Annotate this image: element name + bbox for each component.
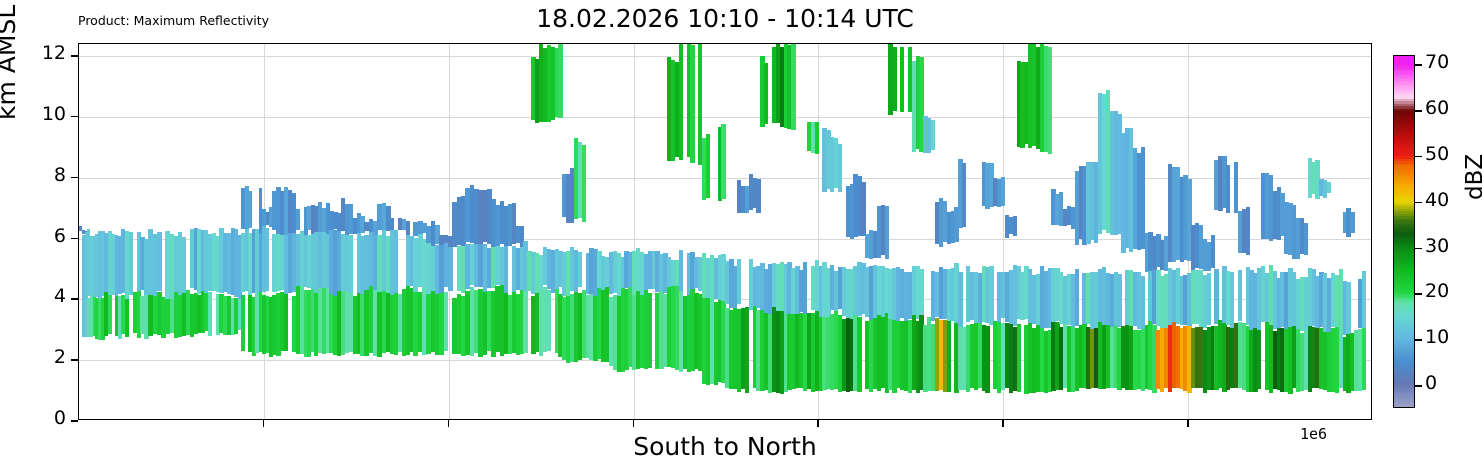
reflectivity-cell <box>1327 182 1331 193</box>
colorbar-tick-label: 30 <box>1425 235 1449 257</box>
colorbar-tick-label: 20 <box>1425 280 1449 302</box>
reflectivity-cell <box>1362 271 1366 328</box>
y-tick-mark <box>71 55 78 57</box>
reflectivity-cell <box>745 307 749 393</box>
reflectivity-cell <box>861 182 865 237</box>
colorbar-tick-mark <box>1415 64 1422 66</box>
reflectivity-cell <box>947 318 951 392</box>
reflectivity-cell <box>129 232 133 295</box>
x-tick-mark <box>817 420 819 427</box>
reflectivity-cell <box>679 44 683 160</box>
reflectivity-cell <box>125 294 129 336</box>
reflectivity-cell <box>558 44 562 118</box>
colorbar-tick-mark <box>1415 293 1422 295</box>
reflectivity-cell <box>1226 165 1230 213</box>
gridline-horizontal <box>79 117 1371 118</box>
reflectivity-cell <box>900 47 904 112</box>
reflectivity-cell <box>679 250 683 290</box>
reflectivity-cell <box>578 252 582 287</box>
colorbar-tick-mark <box>1415 110 1422 112</box>
reflectivity-cell <box>241 295 245 352</box>
reflectivity-cell <box>838 144 842 192</box>
reflectivity-cell <box>406 221 410 235</box>
reflectivity-cell <box>1001 177 1005 206</box>
reflectivity-cell <box>1048 47 1052 154</box>
reflectivity-cell <box>504 246 508 292</box>
reflectivity-cell <box>919 269 923 316</box>
reflectivity-cell <box>1238 270 1242 320</box>
reflectivity-cell <box>349 235 353 293</box>
colorbar-tick-label: 10 <box>1425 326 1449 348</box>
reflectivity-cell <box>157 232 162 291</box>
y-tick-mark <box>71 238 78 240</box>
colorbar-tick-label: 0 <box>1425 372 1437 394</box>
y-tick-label: 6 <box>10 225 66 247</box>
colorbar-title: dBZ <box>1462 154 1482 200</box>
colorbar-tick-label: 70 <box>1425 51 1449 73</box>
reflectivity-cell <box>1013 216 1017 237</box>
reflectivity-cell <box>690 45 694 163</box>
y-tick-label: 2 <box>10 346 66 368</box>
reflectivity-cell <box>1075 269 1079 326</box>
reflectivity-cell <box>1141 276 1145 330</box>
reflectivity-cell <box>803 262 807 313</box>
reflectivity-cell <box>1207 273 1211 325</box>
reflectivity-cell <box>582 145 586 222</box>
reflectivity-cell <box>885 206 889 260</box>
x-tick-mark <box>263 420 265 427</box>
y-tick-mark <box>71 116 78 118</box>
reflectivity-cell <box>648 293 652 367</box>
reflectivity-cell <box>1246 207 1250 255</box>
reflectivity-cell <box>706 134 710 198</box>
reflectivity-cell <box>108 295 112 334</box>
chart-title: 18.02.2026 10:10 - 10:14 UTC <box>78 4 1372 33</box>
reflectivity-cell <box>1117 274 1121 327</box>
y-tick-label: 4 <box>10 285 66 307</box>
reflectivity-cell <box>1214 269 1218 324</box>
x-tick-mark <box>448 420 450 427</box>
reflectivity-cell <box>962 163 966 227</box>
reflectivity-cell <box>523 288 527 353</box>
reflectivity-cell <box>791 44 795 130</box>
y-tick-mark <box>71 420 78 422</box>
y-axis-title: km AMSL <box>0 5 21 120</box>
reflectivity-cell <box>248 191 252 228</box>
reflectivity-cell <box>547 290 551 351</box>
reflectivity-cell <box>444 292 449 351</box>
reflectivity-cell <box>1017 324 1021 392</box>
reflectivity-cell <box>958 272 962 327</box>
colorbar-tick-label: 60 <box>1425 97 1449 119</box>
x-axis-offset-exponent: 1e6 <box>1300 425 1327 443</box>
reflectivity-cell <box>737 259 741 304</box>
colorbar-tick-mark <box>1415 156 1422 158</box>
radar-cross-section-figure: Product: Maximum Reflectivity 18.02.2026… <box>0 0 1482 470</box>
reflectivity-cell <box>284 292 288 351</box>
colorbar-tick-label: 40 <box>1425 189 1449 211</box>
x-tick-mark <box>1002 420 1004 427</box>
reflectivity-cell <box>985 326 989 393</box>
colorbar-tick-mark <box>1415 248 1422 250</box>
colorbar-tick-mark <box>1415 339 1422 341</box>
colorbar-tick-mark <box>1415 385 1422 387</box>
colorbar-segment <box>1394 404 1414 407</box>
reflectivity-cell <box>815 122 819 154</box>
reflectivity-cell <box>266 228 270 291</box>
reflectivity-cell <box>1346 282 1350 334</box>
reflectivity-cell <box>857 317 861 392</box>
reflectivity-cell <box>721 124 725 198</box>
reflectivity-cell <box>394 230 398 293</box>
reflectivity-cell <box>1234 162 1238 213</box>
gridline-vertical <box>449 44 450 419</box>
reflectivity-cell <box>1350 212 1354 232</box>
reflectivity-cell <box>892 47 896 111</box>
reflectivity-cell <box>390 218 394 231</box>
y-tick-mark <box>71 359 78 361</box>
x-tick-mark <box>633 420 635 427</box>
reflectivity-cell <box>1362 328 1366 391</box>
reflectivity-cell <box>1257 327 1261 389</box>
y-tick-label: 8 <box>10 164 66 186</box>
reflectivity-cell <box>989 266 993 324</box>
x-axis-title: South to North <box>78 432 1372 461</box>
colorbar-tick-label: 50 <box>1425 143 1449 165</box>
reflectivity-cell <box>1230 272 1234 328</box>
colorbar-tick-mark <box>1415 202 1422 204</box>
reflectivity-cell <box>448 247 453 291</box>
reflectivity-cell <box>208 292 212 336</box>
y-tick-mark <box>71 298 78 300</box>
reflectivity-cell <box>756 179 760 213</box>
plot-area <box>78 43 1372 420</box>
y-tick-label: 0 <box>10 407 66 429</box>
y-tick-mark <box>71 177 78 179</box>
reflectivity-cell <box>182 237 186 294</box>
reflectivity-cell <box>1211 235 1215 268</box>
colorbar <box>1393 55 1415 408</box>
reflectivity-cell <box>764 63 768 123</box>
gridline-horizontal <box>79 56 1371 57</box>
reflectivity-cell <box>296 209 300 230</box>
x-tick-mark <box>1187 420 1189 427</box>
reflectivity-cell <box>1304 223 1308 255</box>
reflectivity-cell <box>931 120 935 150</box>
